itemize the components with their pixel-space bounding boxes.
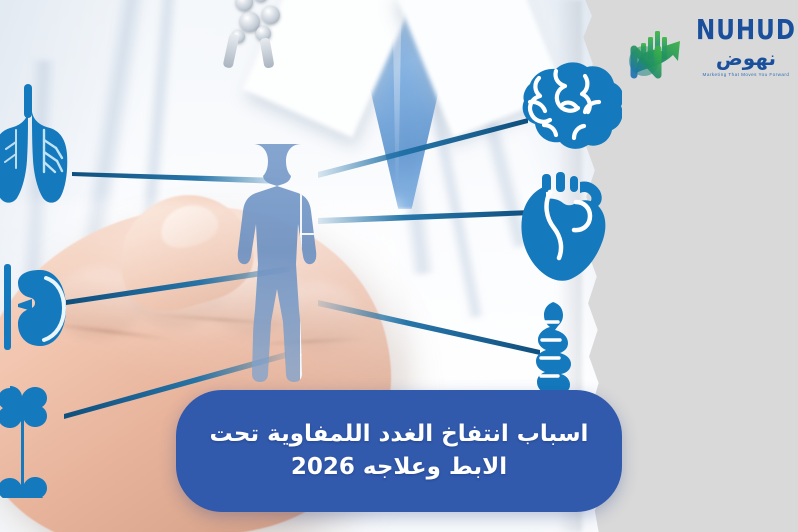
banner-title-line-1: اسباب انتفاخ الغدد اللمفاوية تحت bbox=[210, 418, 589, 451]
logo-wordmark: NUHUD نهوض Marketing That Moves You Forw… bbox=[696, 20, 796, 78]
logo-name: NUHUD bbox=[696, 18, 796, 45]
nuhud-logo[interactable]: NUHUD نهوض Marketing That Moves You Forw… bbox=[628, 8, 794, 90]
heart-icon bbox=[516, 172, 614, 284]
kidney-icon bbox=[0, 248, 76, 366]
brain-icon bbox=[506, 62, 622, 166]
growth-arrow-bars-icon bbox=[628, 17, 690, 81]
banner-title-line-2: الابط وعلاجه 2026 bbox=[291, 451, 507, 484]
logo-name-arabic: نهوض bbox=[716, 48, 776, 68]
title-banner: اسباب انتفاخ الغدد اللمفاوية تحت الابط و… bbox=[176, 390, 622, 512]
lungs-icon bbox=[0, 78, 78, 206]
human-body-silhouette bbox=[216, 140, 386, 390]
body-measure-grid bbox=[300, 140, 346, 390]
bone-icon bbox=[0, 368, 58, 498]
thumbnail-canvas: NUHUD نهوض Marketing That Moves You Forw… bbox=[0, 0, 798, 532]
logo-tagline: Marketing That Moves You Forward bbox=[703, 73, 790, 78]
